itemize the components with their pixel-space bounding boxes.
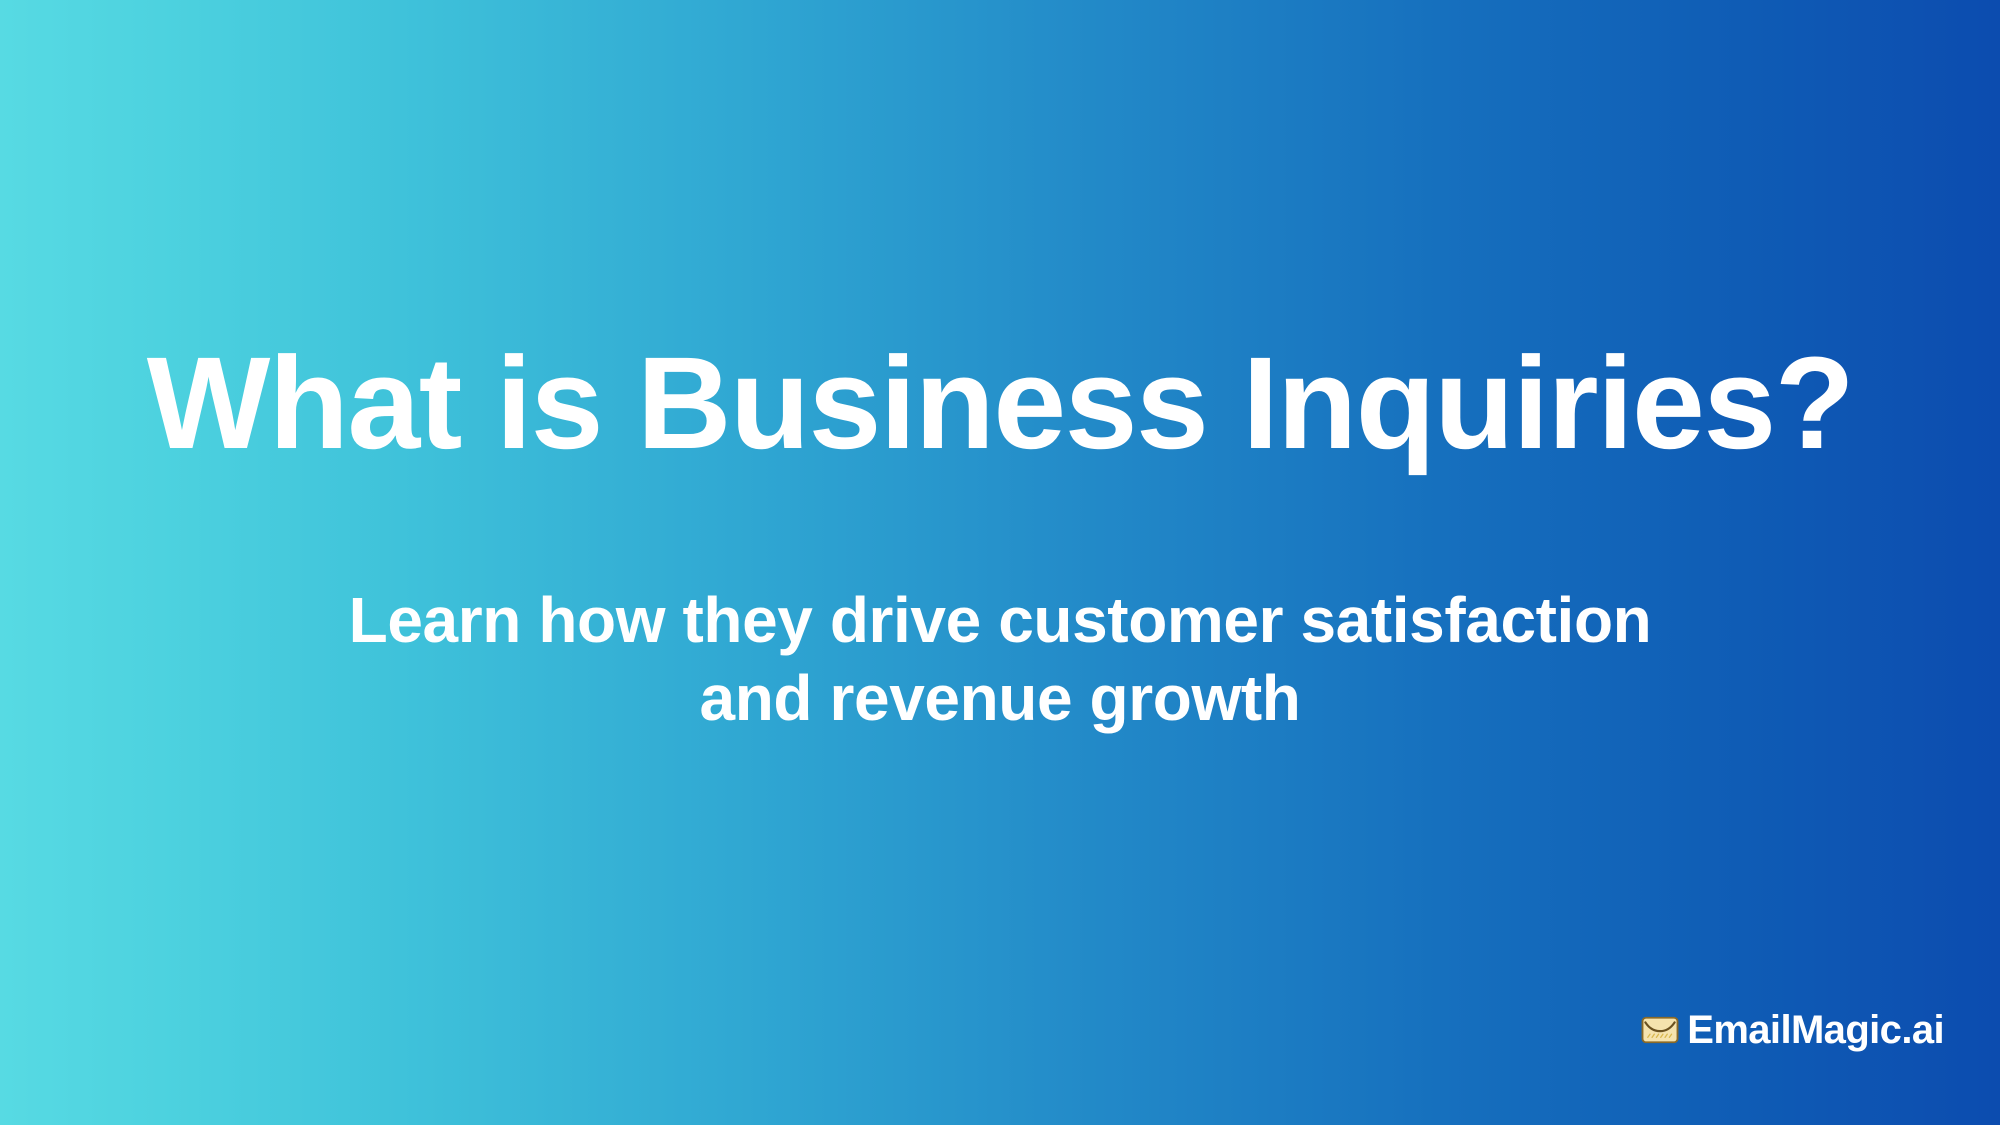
subtitle-line-2: and revenue growth bbox=[349, 659, 1652, 737]
brand-name: EmailMagic.ai bbox=[1687, 1010, 1944, 1050]
hero-text-block: What is Business Inquiries? Learn how th… bbox=[0, 330, 2000, 737]
page-title: What is Business Inquiries? bbox=[147, 330, 1854, 477]
subtitle-line-1: Learn how they drive customer satisfacti… bbox=[349, 581, 1652, 659]
brand-lockup: EmailMagic.ai bbox=[1639, 1009, 1944, 1051]
subtitle: Learn how they drive customer satisfacti… bbox=[349, 581, 1652, 737]
slide-canvas: What is Business Inquiries? Learn how th… bbox=[0, 0, 2000, 1125]
envelope-icon bbox=[1639, 1009, 1681, 1051]
